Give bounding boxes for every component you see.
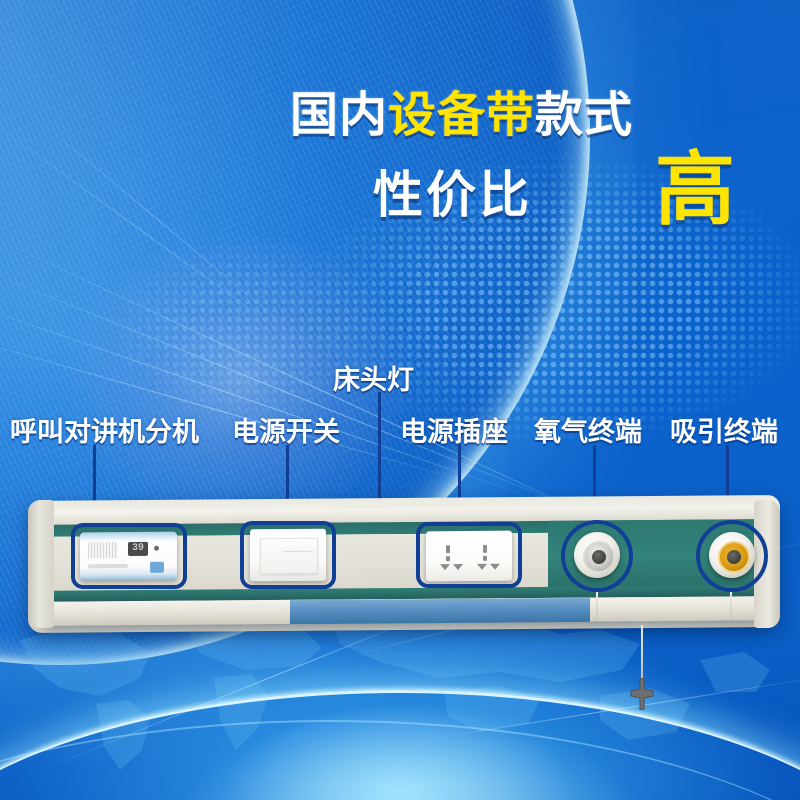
callout-label-power-switch: 电源开关 xyxy=(232,410,340,449)
headline: 国内设备带款式 xyxy=(290,92,633,140)
suction-outlet-cord xyxy=(730,590,732,620)
bed-head-unit: 39 xyxy=(28,498,780,630)
callout-label-bed-lamp: 床头灯 xyxy=(333,358,414,397)
promo-image-canvas: 国内设备带款式 性价比 高 呼叫对讲机分机 电源开关 床头灯 电源插座 氧气终端… xyxy=(0,0,800,800)
horizon-glow xyxy=(150,700,670,800)
highlight-ring-suction xyxy=(696,520,768,592)
callout-label-suction: 吸引终端 xyxy=(670,410,778,449)
callout-label-oxygen: 氧气终端 xyxy=(534,410,642,449)
headline-part-highlight: 设备带 xyxy=(388,89,535,142)
headline-part-white-2: 款式 xyxy=(535,89,633,142)
highlight-box-intercom xyxy=(71,523,187,589)
highlight-ring-oxygen xyxy=(561,520,633,592)
highlight-box-power-switch xyxy=(240,521,336,589)
highlight-box-power-socket xyxy=(416,522,522,588)
headline-part-white-1: 国内 xyxy=(290,89,388,142)
emphasis-character: 高 xyxy=(655,150,735,230)
pull-cord-handle[interactable] xyxy=(627,678,657,710)
callout-label-intercom: 呼叫对讲机分机 xyxy=(10,410,199,449)
lamp-rail xyxy=(290,598,590,624)
horizon-arc xyxy=(0,690,800,800)
panel-end-cap-left xyxy=(28,500,54,628)
oxygen-outlet-cord xyxy=(596,590,598,620)
horizon-arc-outer xyxy=(0,720,800,800)
subheadline: 性价比 xyxy=(373,170,532,220)
callout-label-power-socket: 电源插座 xyxy=(400,410,508,449)
